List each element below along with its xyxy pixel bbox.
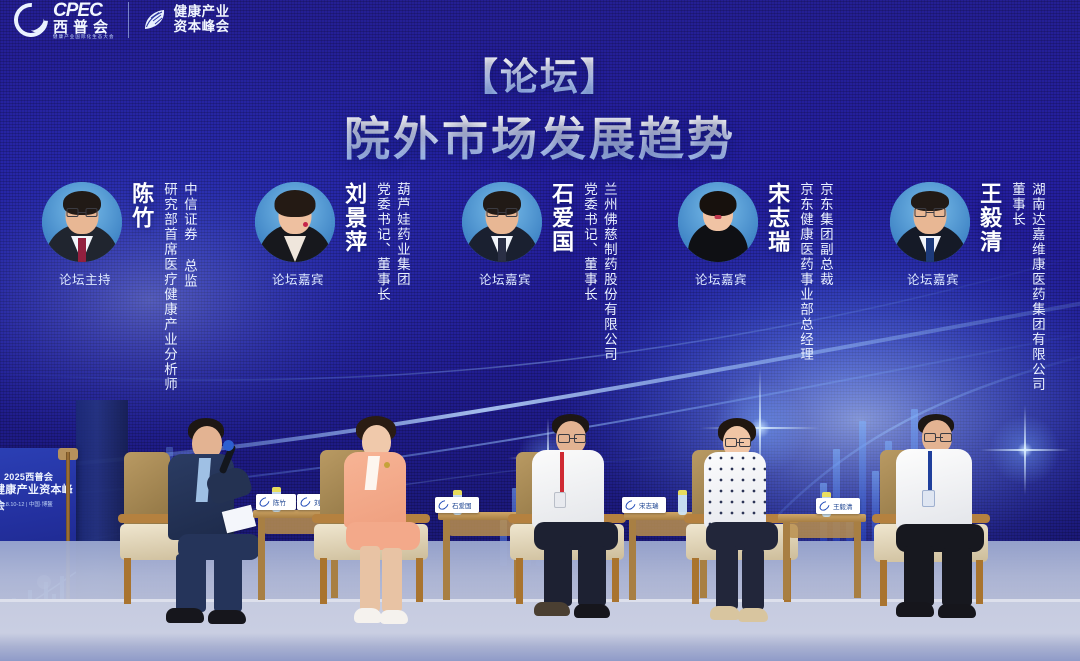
panelist-titles-4: 湖南达嘉维康医药集团有限公司 董事长 <box>1005 182 1045 392</box>
summit-logo: 健康产业 资本峰会 <box>142 5 230 34</box>
panelist-title-2-1: 党委书记、董事长 <box>580 182 597 362</box>
avatar <box>890 182 970 262</box>
panelist-name-2: 石爱国 <box>550 182 573 254</box>
glasses-icon <box>558 434 586 443</box>
glasses-icon <box>67 208 98 217</box>
panelist-title-4-0: 湖南达嘉维康医药集团有限公司 <box>1028 182 1045 392</box>
seated-person-liujingping <box>338 416 448 636</box>
logo-divider <box>128 2 129 38</box>
panelist-title-3-1: 京东健康医药事业部总经理 <box>796 182 813 362</box>
name-card-text-2: 石爱国 <box>452 500 472 510</box>
panelist-photo-3: 论坛嘉宾 <box>678 182 764 288</box>
panelist-title-0-0: 中信证券 总监 <box>180 182 197 392</box>
glasses-icon <box>725 438 751 447</box>
badge <box>554 492 566 508</box>
panelist-name-1: 刘景萍 <box>343 182 366 254</box>
cpec-logo-cn: 西普会 <box>53 20 115 35</box>
rollup-line2: 健康产业资本峰会 <box>0 481 76 513</box>
name-card-2: 石爱国 <box>435 497 479 513</box>
panelist-photo-4: 论坛嘉宾 <box>890 182 976 288</box>
name-card-0: 陈竹 <box>256 494 296 510</box>
panelist-card-0: 论坛主持 陈竹 中信证券 总监 研究部首席医疗健康产业分析师 <box>42 182 197 392</box>
panelist-title-0-1: 研究部首席医疗健康产业分析师 <box>160 182 177 392</box>
avatar <box>462 182 542 262</box>
forum-title-bracket: 【论坛】 <box>0 46 1080 101</box>
panelist-role-3: 论坛嘉宾 <box>678 269 764 288</box>
name-card-text-3: 宋志瑞 <box>639 500 659 510</box>
glasses-icon <box>924 433 952 442</box>
name-card-text-4: 王毅清 <box>833 501 853 511</box>
panelist-photo-2: 论坛嘉宾 <box>462 182 548 288</box>
event-logo-bar: CPEC 西普会 健康产业国际化生态大会 健康产业 资本峰会 <box>14 0 230 46</box>
cpec-mini-logo-icon <box>624 498 638 511</box>
cpec-mini-logo-icon <box>437 498 451 511</box>
forum-title-main: 院外市场发展趋势 <box>0 103 1080 169</box>
name-card-3: 宋志瑞 <box>622 497 666 513</box>
panelist-name-0: 陈竹 <box>130 182 153 230</box>
glasses-icon <box>487 208 518 217</box>
cpec-logo-subtitle: 健康产业国际化生态大会 <box>53 35 115 40</box>
cpec-mini-logo-icon <box>818 499 832 512</box>
forum-title-block: 【论坛】 院外市场发展趋势 <box>0 46 1080 169</box>
panelist-role-4: 论坛嘉宾 <box>890 269 976 288</box>
avatar <box>42 182 122 262</box>
panelist-photo-0: 论坛主持 <box>42 182 128 288</box>
panelist-card-4: 论坛嘉宾 王毅清 湖南达嘉维康医药集团有限公司 董事长 <box>890 182 1045 392</box>
panelist-title-1-1: 党委书记、董事长 <box>373 182 390 302</box>
cpec-logo: CPEC 西普会 健康产业国际化生态大会 <box>14 1 115 40</box>
panelist-card-2: 论坛嘉宾 石爱国 兰州佛慈制药股份有限公司 党委书记、董事长 <box>462 182 617 362</box>
conference-stage-photo: CPEC 西普会 健康产业国际化生态大会 健康产业 资本峰会 【论坛】 院外市场… <box>0 0 1080 661</box>
badge <box>922 490 935 507</box>
cpec-mini-logo-icon <box>299 495 313 508</box>
panelist-name-4: 王毅清 <box>978 182 1001 254</box>
panelist-card-3: 论坛嘉宾 宋志瑞 京东集团副总裁 京东健康医药事业部总经理 <box>678 182 833 362</box>
panelist-title-2-0: 兰州佛慈制药股份有限公司 <box>600 182 617 362</box>
name-card-4: 王毅清 <box>816 498 860 514</box>
panelist-role-0: 论坛主持 <box>42 269 128 288</box>
panelist-titles-2: 兰州佛慈制药股份有限公司 党委书记、董事长 <box>577 182 617 362</box>
cpec-mini-logo-icon <box>258 495 272 508</box>
cpec-circle-logo-icon <box>7 0 55 44</box>
panelist-title-4-1: 董事长 <box>1008 182 1025 392</box>
panelist-name-3: 宋志瑞 <box>766 182 789 254</box>
panelist-titles-0: 中信证券 总监 研究部首席医疗健康产业分析师 <box>157 182 197 392</box>
side-table <box>778 514 866 602</box>
cpec-logo-en: CPEC <box>53 1 115 20</box>
panelist-titles-3: 京东集团副总裁 京东健康医药事业部总经理 <box>793 182 833 362</box>
rollup-line3: 2025.8.10-12 | 中国·博鳌 <box>0 500 53 508</box>
summit-logo-line1: 健康产业 <box>174 5 230 20</box>
panelist-card-1: 论坛嘉宾 刘景萍 葫芦娃药业集团 党委书记、董事长 <box>255 182 410 302</box>
panelist-titles-1: 葫芦娃药业集团 党委书记、董事长 <box>370 182 410 302</box>
panelist-strip: 论坛主持 陈竹 中信证券 总监 研究部首席医疗健康产业分析师 论坛嘉宾 <box>0 182 1080 412</box>
name-card-text-0: 陈竹 <box>273 497 286 507</box>
panelist-title-3-0: 京东集团副总裁 <box>816 182 833 362</box>
avatar <box>255 182 335 262</box>
summit-logo-line2: 资本峰会 <box>174 20 230 35</box>
panelist-photo-1: 论坛嘉宾 <box>255 182 341 288</box>
glasses-icon <box>915 208 946 217</box>
panelist-role-2: 论坛嘉宾 <box>462 269 548 288</box>
seated-person-wangyiqing <box>888 414 1012 636</box>
panelist-role-1: 论坛嘉宾 <box>255 269 341 288</box>
avatar <box>678 182 758 262</box>
leaf-logo-icon <box>142 7 168 33</box>
panelist-title-1-0: 葫芦娃药业集团 <box>393 182 410 302</box>
